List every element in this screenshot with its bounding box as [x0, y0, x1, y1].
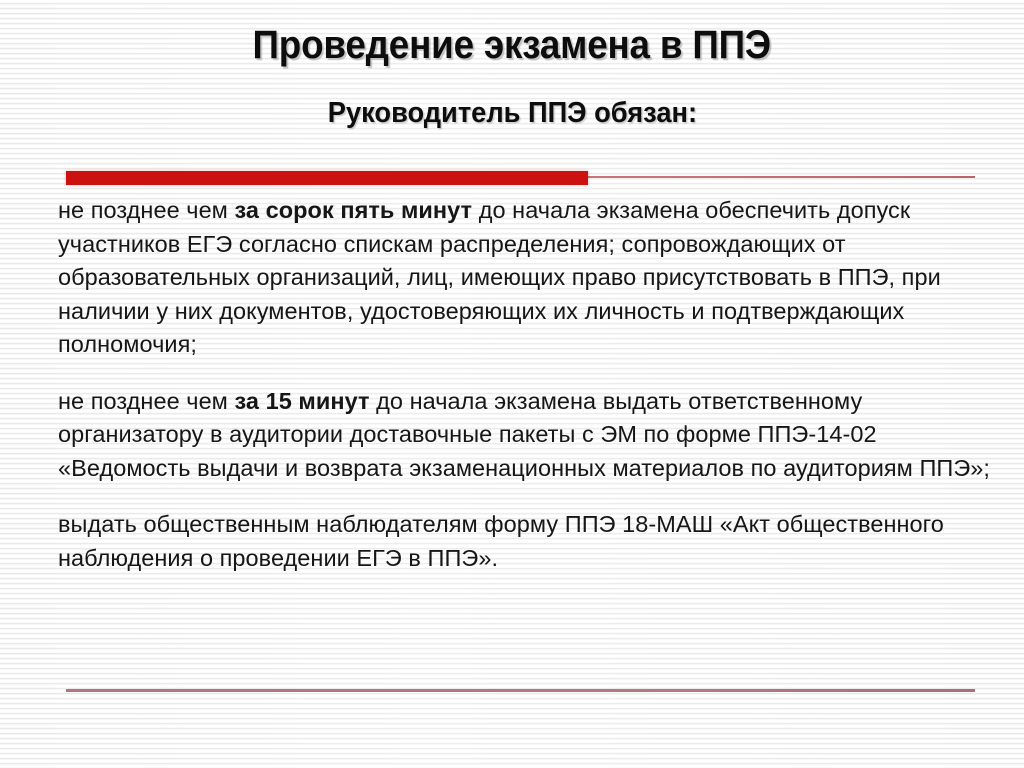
body-text: не позднее чем: [58, 197, 234, 223]
header-divider: [66, 170, 975, 186]
page-title: Проведение экзамена в ППЭ: [253, 22, 771, 68]
footer-divider: [66, 689, 975, 692]
slide-canvas: Проведение экзамена в ППЭ Руководитель П…: [0, 0, 1024, 768]
emphasis-text: за 15 минут: [234, 388, 369, 414]
body-copy: не позднее чем за сорок пять минут до на…: [58, 194, 993, 575]
header-divider-accent-bar: [66, 171, 588, 185]
body-text: не позднее чем: [58, 388, 234, 414]
title-block: Проведение экзамена в ППЭ: [0, 22, 1024, 68]
body-text: выдать общественным наблюдателям форму П…: [58, 511, 944, 571]
paragraph-15-minutes: не позднее чем за 15 минут до начала экз…: [58, 385, 993, 486]
subtitle-block: Руководитель ППЭ обязан:: [0, 96, 1024, 130]
emphasis-text: за сорок пять минут: [234, 197, 472, 223]
page-subtitle: Руководитель ППЭ обязан:: [327, 96, 696, 130]
paragraph-45-minutes: не позднее чем за сорок пять минут до на…: [58, 194, 993, 362]
paragraph-public-observers: выдать общественным наблюдателям форму П…: [58, 508, 993, 575]
